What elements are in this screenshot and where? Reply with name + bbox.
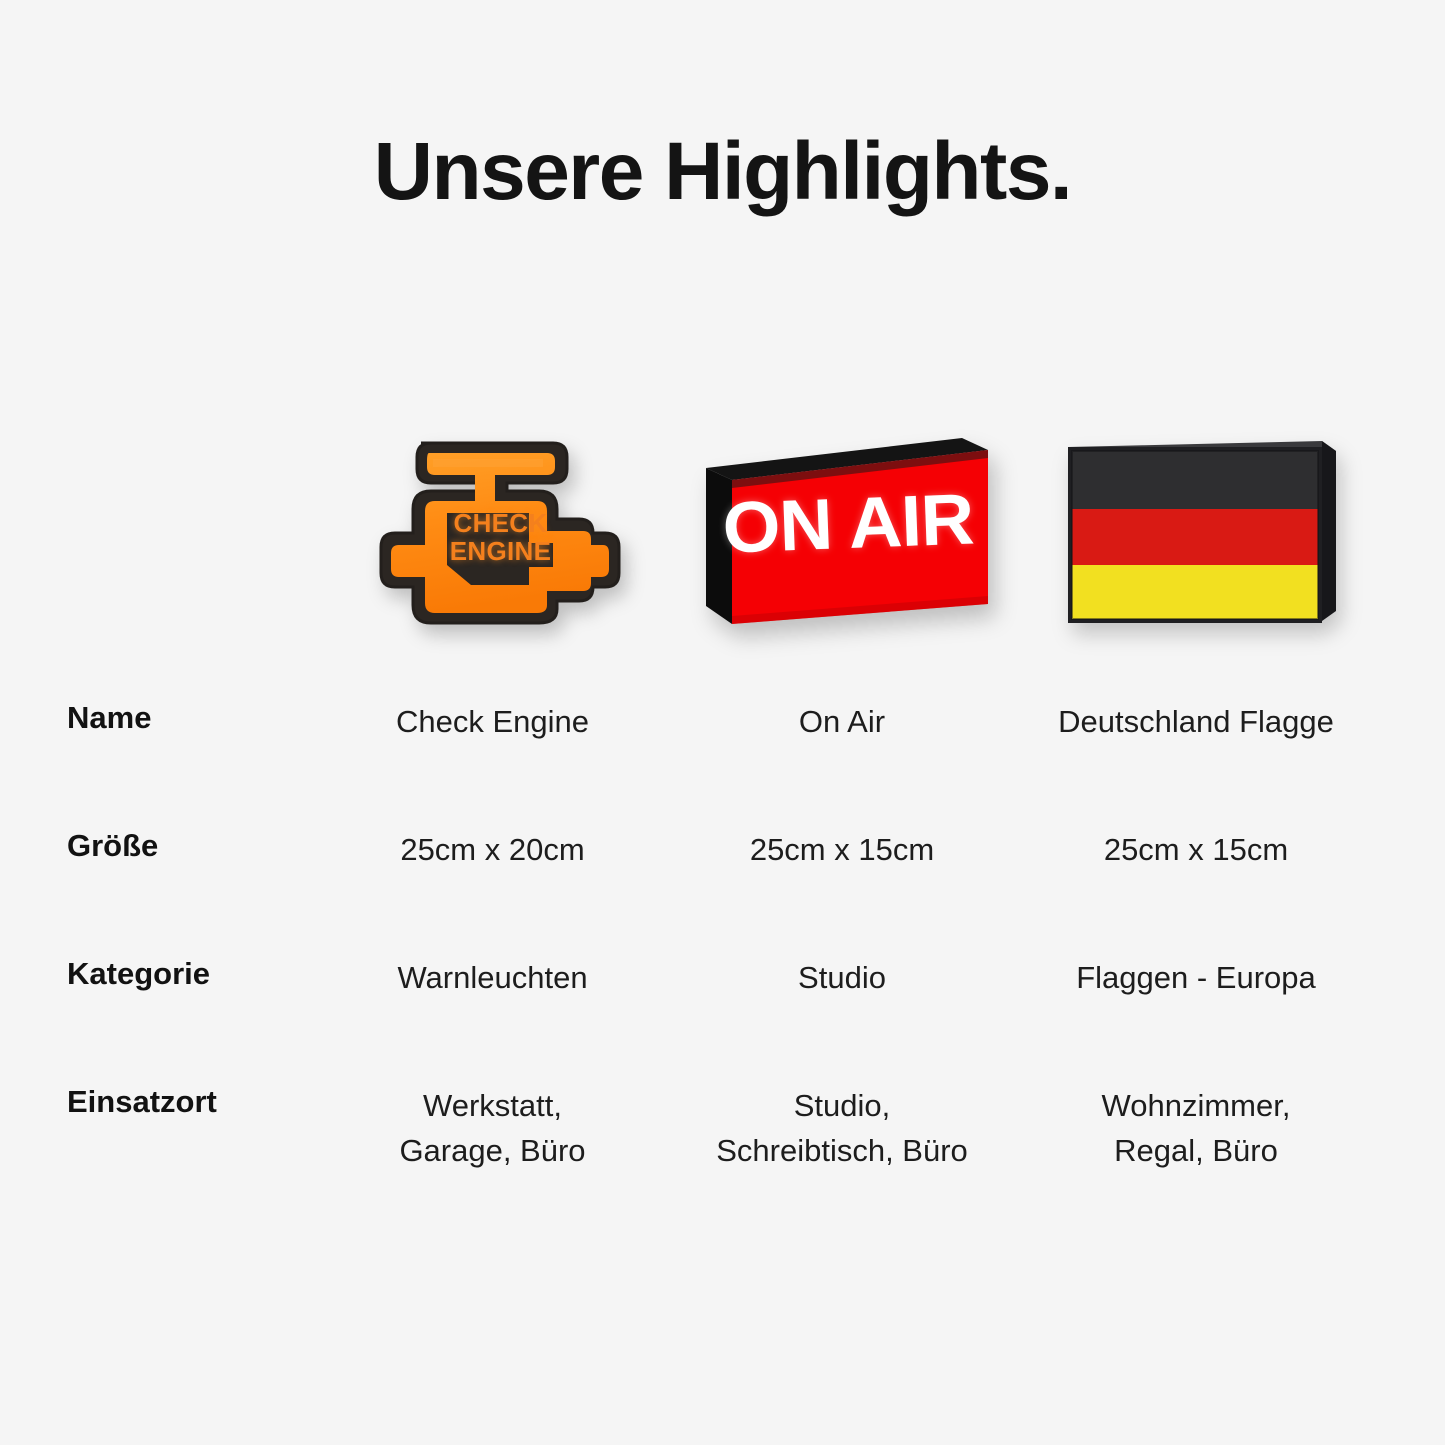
check-engine-text-line2: ENGINE (427, 537, 575, 565)
cell-groesse-check-engine: 25cm x 20cm (320, 828, 665, 873)
cell-name-deutschland-flagge: Deutschland Flagge (1022, 700, 1370, 745)
cell-groesse-on-air: 25cm x 15cm (672, 828, 1012, 873)
product-image-on-air[interactable]: ON AIR (672, 410, 1012, 660)
product-image-check-engine[interactable]: CHECK ENGINE (320, 410, 665, 660)
on-air-lightbox: ON AIR (692, 428, 992, 643)
cell-line-1: Werkstatt, (320, 1084, 665, 1129)
cell-einsatzort-deutschland-flagge: Wohnzimmer, Regal, Büro (1022, 1084, 1370, 1174)
cell-kategorie-on-air: Studio (672, 956, 1012, 1001)
table-row: Größe 25cm x 20cm 25cm x 15cm 25cm x 15c… (0, 828, 1445, 956)
row-label-name: Name (67, 700, 151, 736)
cell-line-2: Regal, Büro (1022, 1129, 1370, 1174)
cell-einsatzort-check-engine: Werkstatt, Garage, Büro (320, 1084, 665, 1174)
german-flag-box-shape (1046, 435, 1346, 635)
row-label-einsatzort: Einsatzort (67, 1084, 217, 1120)
cell-line-2: Garage, Büro (320, 1129, 665, 1174)
page-title: Unsere Highlights. (0, 131, 1445, 213)
product-image-deutschland-flagge[interactable] (1022, 410, 1370, 660)
spec-comparison-table: Name Check Engine On Air Deutschland Fla… (0, 700, 1445, 1234)
cell-einsatzort-on-air: Studio, Schreibtisch, Büro (672, 1084, 1012, 1174)
cell-name-check-engine: Check Engine (320, 700, 665, 745)
table-row: Name Check Engine On Air Deutschland Fla… (0, 700, 1445, 828)
cell-line-1: Wohnzimmer, (1022, 1084, 1370, 1129)
table-row: Einsatzort Werkstatt, Garage, Büro Studi… (0, 1084, 1445, 1234)
cell-name-on-air: On Air (672, 700, 1012, 745)
row-label-groesse: Größe (67, 828, 158, 864)
cell-line-1: Studio, (672, 1084, 1012, 1129)
cell-line-2: Schreibtisch, Büro (672, 1129, 1012, 1174)
product-image-row: CHECK ENGINE ON AIR (0, 410, 1445, 660)
table-row: Kategorie Warnleuchten Studio Flaggen - … (0, 956, 1445, 1084)
on-air-sign-text: ON AIR (708, 482, 989, 564)
cell-kategorie-check-engine: Warnleuchten (320, 956, 665, 1001)
cell-kategorie-deutschland-flagge: Flaggen - Europa (1022, 956, 1370, 1001)
deutschland-flagge-lightbox (1046, 435, 1346, 635)
check-engine-sign-text: CHECK ENGINE (427, 509, 575, 565)
check-engine-text-line1: CHECK (427, 509, 575, 537)
check-engine-lamp: CHECK ENGINE (343, 423, 643, 648)
cell-groesse-deutschland-flagge: 25cm x 15cm (1022, 828, 1370, 873)
row-label-kategorie: Kategorie (67, 956, 210, 992)
